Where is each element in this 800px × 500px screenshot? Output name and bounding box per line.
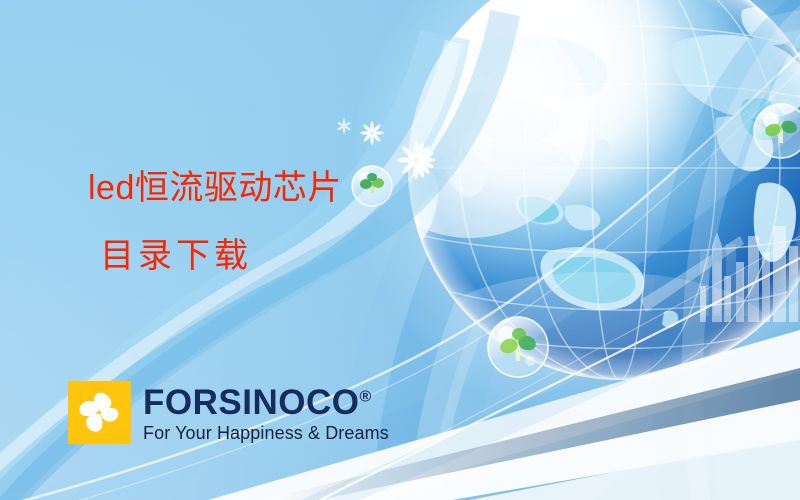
bubble-icon [352, 166, 392, 206]
logo-text-block: FORSINOCO® For Your Happiness & Dreams [143, 381, 389, 443]
promo-banner: led恒流驱动芯片 目录下载 FORSINOCO® For Your Happi… [0, 0, 800, 500]
headline-line-1: led恒流驱动芯片 [88, 166, 342, 210]
logo-wordmark-text: FORSINOCO [143, 383, 359, 422]
pinwheel-petals-mark-icon [68, 381, 131, 444]
bubble-icon [488, 317, 548, 377]
brand-logo[interactable]: FORSINOCO® For Your Happiness & Dreams [68, 381, 389, 444]
headline-line-2: 目录下载 [100, 234, 342, 278]
logo-tagline: For Your Happiness & Dreams [143, 423, 389, 443]
registered-trademark-symbol: ® [359, 388, 371, 405]
headline: led恒流驱动芯片 目录下载 [88, 166, 342, 278]
bubble-icon [754, 104, 800, 158]
logo-wordmark: FORSINOCO® [143, 386, 389, 420]
